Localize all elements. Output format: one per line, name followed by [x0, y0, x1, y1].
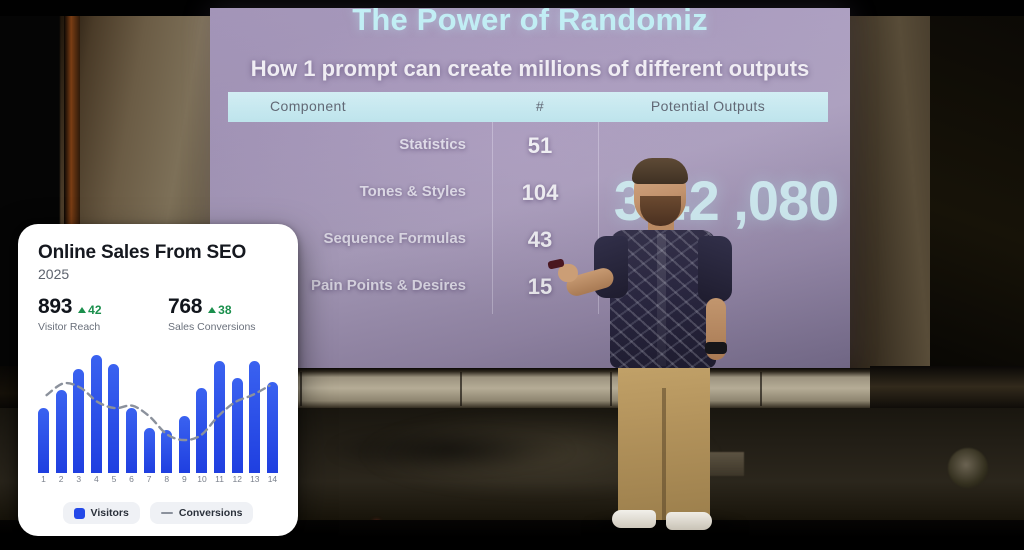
legend-item-visitors[interactable]: Visitors: [63, 502, 140, 524]
analytics-card: Online Sales From SEO 2025 893 42 Visito…: [18, 224, 298, 536]
legend-label: Visitors: [91, 507, 129, 519]
legend-item-conversions[interactable]: Conversions: [150, 502, 254, 524]
stage-speaker: [948, 448, 988, 488]
screenshot-root: The Power of Randomiz How 1 prompt can c…: [0, 0, 1024, 550]
trend-path: [47, 383, 270, 440]
chart-x-tick: 12: [232, 474, 243, 484]
stat-delta-value: 42: [88, 303, 101, 317]
slide-row-component: Statistics: [228, 137, 492, 153]
chart-x-tick: 8: [161, 474, 172, 484]
slide-subtitle: How 1 prompt can create millions of diff…: [210, 56, 850, 82]
panel-dark-right: [870, 366, 1024, 412]
chart-x-tick: 6: [126, 474, 137, 484]
chart-x-tick: 14: [267, 474, 278, 484]
chart-x-tick: 10: [196, 474, 207, 484]
stat-value: 768: [168, 295, 202, 319]
presenter: [560, 152, 770, 550]
card-year: 2025: [38, 266, 278, 282]
chart-x-tick: 11: [214, 474, 225, 484]
stat-delta: 42: [78, 303, 101, 317]
chart-x-tick: 9: [179, 474, 190, 484]
presenter-hair: [632, 158, 688, 184]
presenter-shirt-placket: [657, 234, 666, 366]
legend-label: Conversions: [179, 507, 243, 519]
presenter-leg-split: [662, 388, 666, 520]
triangle-up-icon: [208, 307, 216, 313]
stat-visitor-reach: 893 42 Visitor Reach: [38, 295, 158, 333]
slide-header-outputs: Potential Outputs: [651, 98, 765, 114]
triangle-up-icon: [78, 307, 86, 313]
stat-sales-conversions: 768 38 Sales Conversions: [158, 295, 278, 333]
slide-row-component: Tones & Styles: [228, 184, 492, 200]
chart-x-axis: 1234567891011121314: [38, 474, 278, 484]
stat-label: Sales Conversions: [168, 321, 278, 333]
slide-header-component: Component: [270, 98, 346, 114]
chart-x-tick: 3: [73, 474, 84, 484]
stat-value: 893: [38, 295, 72, 319]
panel-seam: [460, 372, 462, 406]
chart: 1234567891011121314: [38, 345, 278, 473]
chart-legend: Visitors Conversions: [38, 502, 278, 524]
presenter-watch: [705, 342, 727, 354]
stat-delta: 38: [208, 303, 231, 317]
chart-x-tick: 2: [56, 474, 67, 484]
chart-x-tick: 4: [91, 474, 102, 484]
square-swatch-icon: [74, 508, 85, 519]
chart-trend-line: [38, 355, 278, 473]
wall-right-dark: [930, 0, 1024, 404]
slide-table-header: Component # Potential Outputs: [228, 92, 828, 122]
dash-line-icon: [161, 512, 173, 514]
stat-delta-value: 38: [218, 303, 231, 317]
chart-x-tick: 5: [108, 474, 119, 484]
presenter-shoe-right: [666, 512, 712, 530]
presenter-shoe-left: [612, 510, 656, 528]
presenter-beard: [640, 196, 681, 226]
stat-label: Visitor Reach: [38, 321, 158, 333]
chart-x-tick: 7: [144, 474, 155, 484]
slide-title: The Power of Randomiz: [210, 8, 850, 38]
chart-x-tick: 1: [38, 474, 49, 484]
slide-header-count: #: [536, 98, 544, 114]
card-stats: 893 42 Visitor Reach 768 38 Sales Conv: [38, 295, 278, 333]
chart-x-tick: 13: [249, 474, 260, 484]
panel-seam: [300, 372, 302, 406]
card-title: Online Sales From SEO: [38, 242, 278, 264]
presenter-sleeve-right: [698, 236, 732, 302]
